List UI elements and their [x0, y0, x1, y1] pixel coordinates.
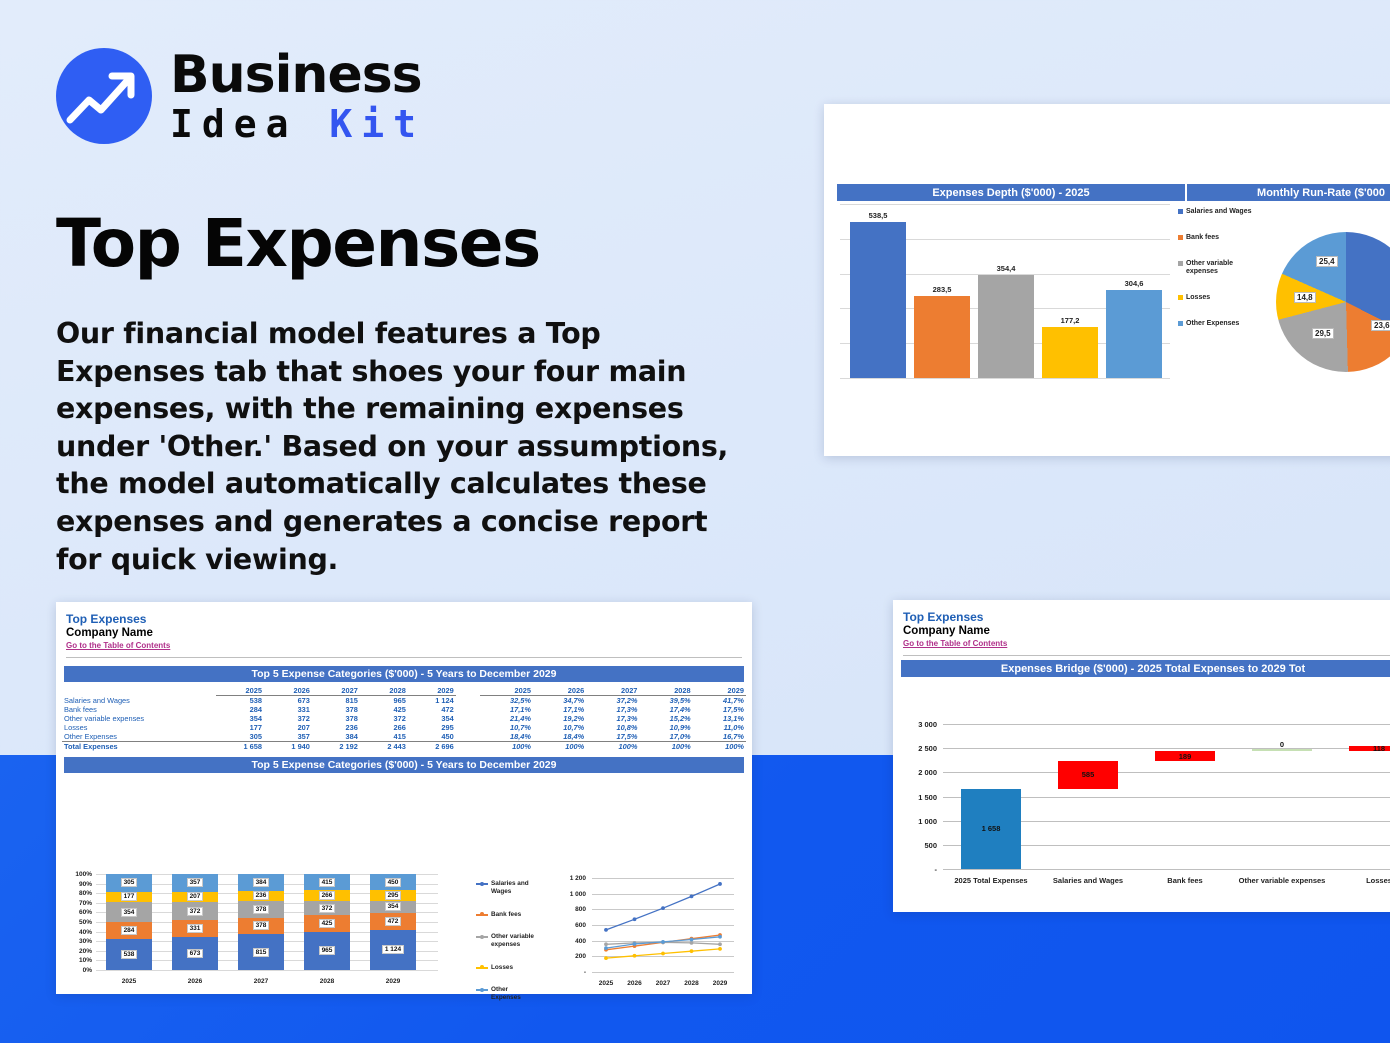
cell-value: 305: [216, 732, 264, 742]
cell-value: 207: [264, 723, 312, 732]
bridge-company-name: Company Name: [903, 625, 1390, 637]
page-title: Top Expenses: [56, 205, 540, 282]
y-axis-tick: 90%: [66, 881, 92, 888]
y-axis-tick: 800: [556, 906, 586, 913]
waterfall-value-label: 0: [1280, 740, 1284, 749]
y-axis-tick: 20%: [66, 948, 92, 955]
expenses-depth-title: Expenses Depth ($'000) - 2025: [837, 184, 1185, 201]
sheet-company-name: Company Name: [66, 627, 752, 639]
stacked-segment: 354: [106, 902, 152, 922]
stacked-segment: 372: [172, 902, 218, 920]
y-axis-tick: 500: [901, 841, 937, 850]
cell-value: 815: [312, 696, 360, 706]
stacked-segment: 207: [172, 892, 218, 902]
gridline: [592, 972, 734, 973]
column-gap: [456, 686, 480, 696]
stacked-column: 384236378378815: [238, 874, 284, 970]
legend-line: [476, 936, 488, 938]
stacked-bar-chart: 0%10%20%30%40%50%60%70%80%90%100%3051773…: [66, 870, 466, 986]
cell-percent: 15,2%: [639, 714, 692, 723]
total-value: 2 443: [360, 742, 408, 752]
total-percent: 100%: [693, 742, 746, 752]
cell-value: 450: [408, 732, 456, 742]
monthly-run-rate-pie: 23,629,514,825,4: [1276, 232, 1390, 372]
column-header: 2029: [408, 686, 456, 696]
expenses-depth-plot: 538,5283,5354,4177,2304,6: [840, 204, 1170, 378]
stacked-segment: 415: [304, 874, 350, 890]
legend-line: [476, 989, 488, 991]
segment-value-label: 331: [187, 924, 204, 933]
line-chart-legend: Salaries and WagesBank feesOther variabl…: [476, 880, 538, 1017]
segment-value-label: 357: [187, 878, 204, 887]
table-row: Losses17720723626629510,7%10,7%10,8%10,9…: [62, 723, 746, 732]
y-axis-tick: 100%: [66, 871, 92, 878]
cell-percent: 21,4%: [480, 714, 533, 723]
y-axis-tick: 1 000: [901, 817, 937, 826]
cell-value: 378: [312, 714, 360, 723]
legend-swatch: [1178, 209, 1183, 214]
cell-value: 357: [264, 732, 312, 742]
legend-swatch: [1178, 261, 1183, 266]
cell-value: 538: [216, 696, 264, 706]
segment-value-label: 372: [319, 904, 336, 913]
segment-value-label: 378: [253, 905, 270, 914]
segment-value-label: 538: [121, 950, 138, 959]
cell-value: 378: [312, 705, 360, 714]
y-axis-tick: 1 500: [901, 793, 937, 802]
total-value: 1 940: [264, 742, 312, 752]
bridge-sheet-header: Top Expenses Company Name Go to the Tabl…: [893, 600, 1390, 648]
cell-value: 415: [360, 732, 408, 742]
cell-percent: 16,7%: [693, 732, 746, 742]
cell-value: 354: [216, 714, 264, 723]
cell-value: 354: [408, 714, 456, 723]
cell-percent: 17,4%: [639, 705, 692, 714]
cell-percent: 10,8%: [586, 723, 639, 732]
brand-logo: Business Idea Kit: [56, 48, 425, 144]
pie-slice-label: 14,8: [1294, 292, 1316, 303]
x-axis-label: 2029: [370, 978, 416, 985]
x-axis-label: 2027: [238, 978, 284, 985]
waterfall-value-label: 1 658: [982, 824, 1001, 833]
stacked-segment: 425: [304, 915, 350, 932]
stacked-segment: 284: [106, 922, 152, 938]
segment-value-label: 207: [187, 892, 204, 901]
legend-label: Salaries and Wages: [1186, 208, 1252, 217]
stacked-segment: 372: [304, 901, 350, 916]
y-axis-tick: -: [901, 865, 937, 874]
cell-percent: 17,5%: [586, 732, 639, 742]
segment-value-label: 450: [385, 878, 402, 887]
segment-value-label: 384: [253, 878, 270, 887]
legend-label: Other variable expenses: [1186, 260, 1258, 278]
legend-item: Bank fees: [1178, 234, 1258, 243]
cell-value: 331: [264, 705, 312, 714]
cell-percent: 17,0%: [639, 732, 692, 742]
bar: [850, 222, 906, 378]
bar-value-label: 283,5: [914, 285, 970, 294]
expenses-bridge-card: Top Expenses Company Name Go to the Tabl…: [893, 600, 1390, 912]
waterfall-plot-area: 1 6582025 Total Expenses585Salaries and …: [943, 724, 1390, 869]
cell-percent: 17,3%: [586, 714, 639, 723]
y-axis-tick: 80%: [66, 890, 92, 897]
y-axis-tick: 600: [556, 922, 586, 929]
finance-table-band: Top 5 Expense Categories ($'000) - 5 Yea…: [64, 666, 744, 682]
waterfall-bar: 1 658: [961, 789, 1021, 869]
x-axis-label: 2028: [304, 978, 350, 985]
row-label: Losses: [62, 723, 216, 732]
x-axis-label: Salaries and Wages: [1042, 876, 1134, 885]
segment-value-label: 815: [253, 948, 270, 957]
cell-percent: 10,7%: [480, 723, 533, 732]
legend-line: [476, 914, 488, 916]
total-value: 2 192: [312, 742, 360, 752]
cell-value: 965: [360, 696, 408, 706]
stacked-segment: 305: [106, 874, 152, 892]
waterfall-bar: 189: [1155, 751, 1215, 760]
growth-arrow-icon: [56, 48, 152, 144]
segment-value-label: 236: [253, 891, 270, 900]
bar: [1042, 327, 1098, 378]
row-label: Bank fees: [62, 705, 216, 714]
gridline: [943, 724, 1390, 725]
cell-percent: 17,3%: [586, 705, 639, 714]
legend-label: Other Expenses: [1186, 320, 1239, 329]
x-axis-label: 2025: [106, 978, 152, 985]
cell-percent: 39,5%: [639, 696, 692, 706]
segment-value-label: 284: [121, 926, 138, 935]
waterfall-value-label: 585: [1082, 770, 1095, 779]
stacked-segment: 295: [370, 890, 416, 901]
legend-label: Losses: [1186, 294, 1210, 303]
segment-value-label: 415: [319, 878, 336, 887]
cell-percent: 17,1%: [533, 705, 586, 714]
waterfall-plot: -5001 0001 5002 0002 5003 0001 6582025 T…: [901, 720, 1390, 900]
x-axis-label: Losses: [1333, 876, 1390, 885]
waterfall-value-label: 118: [1373, 744, 1385, 753]
stacked-segment: 331: [172, 920, 218, 936]
segment-value-label: 295: [385, 891, 402, 900]
cell-value: 372: [264, 714, 312, 723]
y-axis-tick: 200: [556, 953, 586, 960]
line-plot-area: 20252026202720282029: [592, 878, 734, 972]
cell-value: 284: [216, 705, 264, 714]
bar: [1106, 290, 1162, 378]
expenses-bridge-title: Expenses Bridge ($'000) - 2025 Total Exp…: [901, 660, 1390, 677]
brand-name-secondary: Idea Kit: [170, 105, 425, 143]
row-label: Other variable expenses: [62, 714, 216, 723]
stacked-segment: 236: [238, 891, 284, 901]
segment-value-label: 1 124: [382, 945, 404, 954]
cell-percent: 10,9%: [639, 723, 692, 732]
y-axis-tick: 40%: [66, 929, 92, 936]
table-header-row: 2025202620272028202920252026202720282029: [62, 686, 746, 696]
gridline: [943, 748, 1390, 749]
y-axis-tick: 10%: [66, 957, 92, 964]
cell-value: 295: [408, 723, 456, 732]
page-description: Our financial model features a Top Expen…: [56, 315, 756, 578]
bridge-sheet-title: Top Expenses: [903, 610, 1390, 624]
stacked-segment: 354: [370, 901, 416, 914]
cell-percent: 41,7%: [693, 696, 746, 706]
sheet-header: Top Expenses Company Name Go to the Tabl…: [56, 602, 752, 650]
cell-percent: 11,0%: [693, 723, 746, 732]
pie-slice-label: 23,6: [1371, 320, 1390, 331]
line-series-group: [592, 878, 734, 972]
cell-percent: 17,5%: [693, 705, 746, 714]
total-value: 1 658: [216, 742, 264, 752]
cell-percent: 34,7%: [533, 696, 586, 706]
y-axis-tick: 70%: [66, 900, 92, 907]
segment-value-label: 425: [319, 919, 336, 928]
gridline: [840, 378, 1170, 379]
stacked-column: 415266372425965: [304, 874, 350, 970]
cell-percent: 18,4%: [533, 732, 586, 742]
bar: [914, 296, 970, 378]
legend-label: Other Expenses: [491, 986, 538, 1002]
legend-line: [476, 967, 488, 969]
segment-value-label: 266: [319, 891, 336, 900]
y-axis-tick: 1 200: [556, 875, 586, 882]
x-axis-label: 2026: [172, 978, 218, 985]
column-header: 2026: [533, 686, 586, 696]
cell-percent: 37,2%: [586, 696, 639, 706]
cell-percent: 19,2%: [533, 714, 586, 723]
total-label: Total Expenses: [62, 742, 216, 752]
stacked-segment: 378: [238, 901, 284, 918]
divider: [66, 657, 742, 658]
table-row: Salaries and Wages5386738159651 12432,5%…: [62, 696, 746, 706]
waterfall-bar: 118: [1349, 746, 1390, 752]
stacked-segment: 965: [304, 932, 350, 970]
bar-value-label: 538,5: [850, 211, 906, 220]
y-axis-tick: 30%: [66, 938, 92, 945]
segment-value-label: 354: [385, 902, 402, 911]
table-row: Bank fees28433137842547217,1%17,1%17,3%1…: [62, 705, 746, 714]
y-axis-tick: 0%: [66, 967, 92, 974]
stacked-segment: 815: [238, 934, 284, 970]
legend-item: Other Expenses: [1178, 320, 1258, 329]
column-header: 2028: [360, 686, 408, 696]
waterfall-bar: 0: [1252, 749, 1312, 751]
legend-line: [476, 883, 488, 885]
gridline: [840, 204, 1170, 205]
column-header: 2025: [480, 686, 533, 696]
table-body: Salaries and Wages5386738159651 12432,5%…: [62, 696, 746, 752]
stacked-chart-band: Top 5 Expense Categories ($'000) - 5 Yea…: [64, 757, 744, 773]
segment-value-label: 177: [121, 892, 138, 901]
x-axis-label: 2027: [648, 980, 678, 987]
table-row: Other variable expenses35437237837235421…: [62, 714, 746, 723]
stacked-segment: 357: [172, 874, 218, 892]
cell-value: 372: [360, 714, 408, 723]
pie-slice-label: 29,5: [1312, 328, 1334, 339]
legend-item: Other Expenses: [476, 986, 538, 1002]
stacked-segment: 266: [304, 890, 350, 900]
segment-value-label: 965: [319, 946, 336, 955]
brand-kit-text: Kit: [329, 102, 425, 146]
segment-value-label: 673: [187, 949, 204, 958]
total-percent: 100%: [586, 742, 639, 752]
column-header: 2027: [312, 686, 360, 696]
legend-swatch: [1178, 235, 1183, 240]
legend-item: Bank fees: [476, 911, 538, 919]
x-axis-label: 2026: [620, 980, 650, 987]
stacked-segment: 177: [106, 892, 152, 902]
cell-value: 177: [216, 723, 264, 732]
legend-label: Bank fees: [491, 911, 521, 919]
total-value: 2 696: [408, 742, 456, 752]
stacked-segment: 378: [238, 918, 284, 935]
gridline: [96, 970, 438, 971]
legend-item: Losses: [476, 964, 538, 972]
segment-value-label: 305: [121, 878, 138, 887]
cell-value: 425: [360, 705, 408, 714]
column-header: 2025: [216, 686, 264, 696]
stacked-segment: 450: [370, 874, 416, 890]
table-of-contents-link[interactable]: Go to the Table of Contents: [66, 641, 752, 650]
stacked-segment: 673: [172, 937, 218, 970]
cell-value: 472: [408, 705, 456, 714]
column-header: 2027: [586, 686, 639, 696]
cell-value: 266: [360, 723, 408, 732]
legend-swatch: [1178, 295, 1183, 300]
segment-value-label: 378: [253, 921, 270, 930]
cell-value: 236: [312, 723, 360, 732]
stacked-segment: 1 124: [370, 930, 416, 970]
expenses-depth-card: Expenses Depth ($'000) - 2025 Monthly Ru…: [824, 104, 1390, 456]
total-percent: 100%: [533, 742, 586, 752]
stacked-plot-area: 3051773542845382025357207372331673202638…: [96, 874, 438, 970]
segment-value-label: 354: [121, 908, 138, 917]
stacked-segment: 384: [238, 874, 284, 891]
legend-label: Bank fees: [1186, 234, 1219, 243]
top-expenses-sheet-card: Top Expenses Company Name Go to the Tabl…: [56, 602, 752, 994]
segment-value-label: 372: [187, 907, 204, 916]
gridline: [943, 772, 1390, 773]
y-axis-tick: -: [556, 969, 586, 976]
y-axis-tick: 60%: [66, 909, 92, 916]
x-axis-label: 2025 Total Expenses: [945, 876, 1037, 885]
bar: [978, 275, 1034, 378]
row-label: Other Expenses: [62, 732, 216, 742]
column-header: 2026: [264, 686, 312, 696]
y-axis-tick: 2 500: [901, 744, 937, 753]
stacked-column: 4502953544721 124: [370, 874, 416, 970]
cell-value: 384: [312, 732, 360, 742]
bar-value-label: 177,2: [1042, 316, 1098, 325]
cell-percent: 10,7%: [533, 723, 586, 732]
legend-label: Other variable expenses: [491, 933, 538, 949]
pie-slice-label: 25,4: [1316, 256, 1338, 267]
legend-label: Salaries and Wages: [491, 880, 538, 896]
x-axis-label: 2025: [591, 980, 621, 987]
stacked-segment: 538: [106, 939, 152, 970]
legend-swatch: [1178, 321, 1183, 326]
x-axis-label: Bank fees: [1139, 876, 1231, 885]
total-percent: 100%: [639, 742, 692, 752]
waterfall-bar: 585: [1058, 761, 1118, 789]
legend-item: Salaries and Wages: [1178, 208, 1258, 217]
bridge-toc-link[interactable]: Go to the Table of Contents: [903, 639, 1390, 648]
line-chart: -2004006008001 0001 20020252026202720282…: [556, 874, 742, 992]
x-axis-label: Other variable expenses: [1236, 876, 1328, 885]
gridline: [943, 869, 1390, 870]
table-total-row: Total Expenses1 6581 9402 1922 4432 6961…: [62, 742, 746, 752]
expense-categories-table: 2025202620272028202920252026202720282029…: [62, 686, 746, 751]
y-axis-tick: 3 000: [901, 720, 937, 729]
column-header: 2028: [639, 686, 692, 696]
cell-percent: 32,5%: [480, 696, 533, 706]
cell-percent: 18,4%: [480, 732, 533, 742]
brand-idea-text: Idea: [170, 102, 329, 146]
row-label: Salaries and Wages: [62, 696, 216, 706]
stacked-column: 305177354284538: [106, 874, 152, 970]
cell-value: 1 124: [408, 696, 456, 706]
x-axis-label: 2029: [705, 980, 735, 987]
y-axis-tick: 400: [556, 938, 586, 945]
stacked-column: 357207372331673: [172, 874, 218, 970]
cell-value: 673: [264, 696, 312, 706]
legend-item: Salaries and Wages: [476, 880, 538, 896]
legend-item: Losses: [1178, 294, 1258, 303]
bar-value-label: 354,4: [978, 264, 1034, 273]
y-axis-tick: 50%: [66, 919, 92, 926]
y-axis-tick: 2 000: [901, 768, 937, 777]
total-percent: 100%: [480, 742, 533, 752]
bar-value-label: 304,6: [1106, 279, 1162, 288]
cell-percent: 13,1%: [693, 714, 746, 723]
y-axis-tick: 1 000: [556, 891, 586, 898]
segment-value-label: 472: [385, 917, 402, 926]
x-axis-label: 2028: [677, 980, 707, 987]
waterfall-value-label: 189: [1179, 752, 1192, 761]
cell-percent: 17,1%: [480, 705, 533, 714]
legend-item: Other variable expenses: [476, 933, 538, 949]
monthly-run-rate-title: Monthly Run-Rate ($'000: [1187, 184, 1390, 201]
legend-label: Losses: [491, 964, 513, 972]
bridge-divider: [903, 655, 1390, 656]
table-row: Other Expenses30535738441545018,4%18,4%1…: [62, 732, 746, 742]
chart-title-row: Expenses Depth ($'000) - 2025 Monthly Ru…: [837, 184, 1390, 201]
legend-item: Other variable expenses: [1178, 260, 1258, 278]
brand-name-primary: Business: [170, 49, 425, 101]
stacked-segment: 472: [370, 913, 416, 930]
column-header: 2029: [693, 686, 746, 696]
expenses-depth-legend: Salaries and WagesBank feesOther variabl…: [1178, 208, 1258, 346]
sheet-title: Top Expenses: [66, 612, 752, 626]
